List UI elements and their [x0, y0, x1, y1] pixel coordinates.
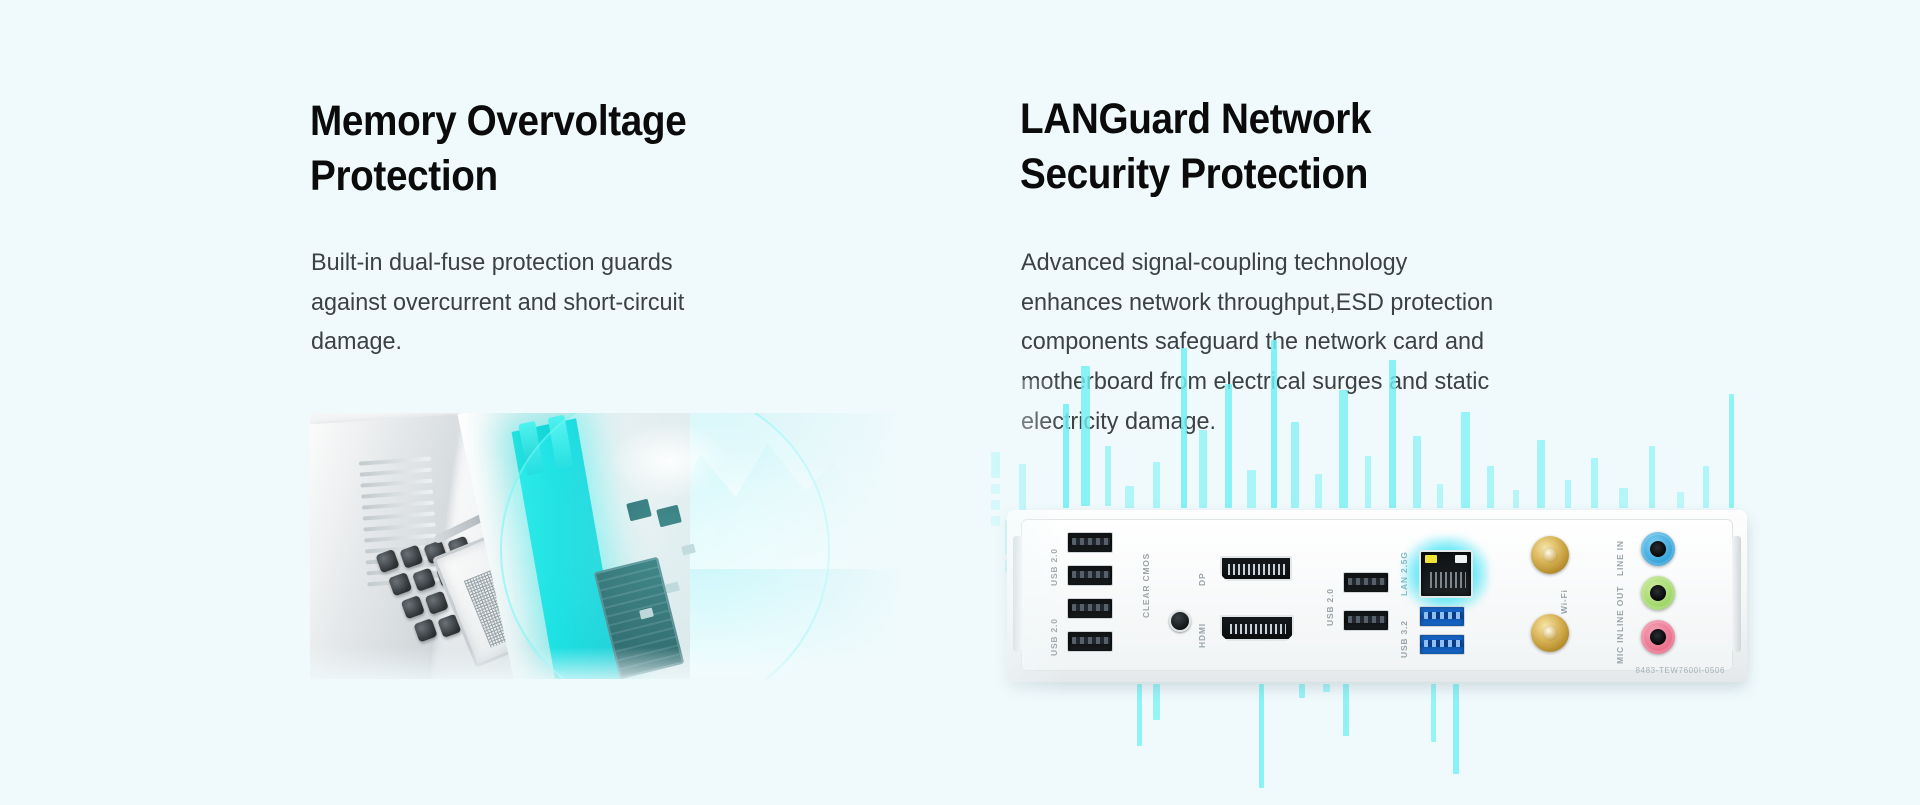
feature-body-memory: Built-in dual-fuse protection guards aga…: [311, 243, 922, 362]
port-label-hdmi: HDMI: [1197, 610, 1207, 648]
usb2-port-3: [1067, 598, 1113, 619]
audio-jack-line-in: [1641, 532, 1675, 566]
port-label-clear-cmos: CLEAR CMOS: [1141, 540, 1151, 618]
io-shield-photo: USB 2.0 USB 2.0 CLEAR CMOS DP HDMI USB 2…: [985, 400, 1775, 740]
feature-panel-page: Memory Overvoltage Protection Built-in d…: [0, 0, 1920, 805]
io-shield-serial-text: 8483-TEW7600I-0506: [1635, 666, 1725, 675]
usb32-port-1: [1419, 606, 1465, 627]
io-shield-inner-frame: [1021, 519, 1733, 671]
io-shield-plate: USB 2.0 USB 2.0 CLEAR CMOS DP HDMI USB 2…: [1007, 510, 1747, 682]
feature-heading-memory: Memory Overvoltage Protection: [310, 94, 886, 203]
usb2-port-2: [1067, 565, 1113, 586]
feature-heading-languard: LANGuard Network Security Protection: [1020, 92, 1650, 201]
port-label-usb32: USB 3.2: [1399, 606, 1409, 658]
io-shield-right-tab: [1732, 536, 1741, 652]
clear-cmos-button[interactable]: [1169, 610, 1191, 632]
memory-motherboard-photo: [310, 413, 898, 679]
usb2-port-1: [1067, 532, 1113, 553]
usb2-port-4: [1067, 631, 1113, 652]
port-label-dp: DP: [1197, 554, 1207, 586]
audio-jack-line-out: [1641, 576, 1675, 610]
usb2-port-5: [1343, 572, 1389, 593]
hdmi-port: [1220, 615, 1294, 641]
displayport-port: [1220, 556, 1292, 581]
lan-rj45-port: [1419, 550, 1473, 598]
lan-led-white: [1455, 555, 1467, 563]
lan-led-yellow: [1425, 555, 1437, 563]
usb32-port-2: [1419, 634, 1465, 655]
port-label-usb2-top: USB 2.0: [1049, 532, 1059, 586]
audio-jack-mic-in: [1641, 620, 1675, 654]
wifi-antenna-connector-bottom: [1531, 614, 1569, 652]
port-label-line-in: LINE IN: [1615, 530, 1625, 576]
port-label-usb2-mid: USB 2.0: [1049, 602, 1059, 656]
port-label-wifi: Wi-Fi: [1559, 574, 1569, 614]
port-label-usb2-right: USB 2.0: [1325, 572, 1335, 626]
io-shield-left-tab: [1013, 536, 1022, 652]
port-label-lan: LAN 2.5G: [1399, 538, 1409, 596]
wifi-antenna-connector-top: [1531, 536, 1569, 574]
usb2-port-6: [1343, 610, 1389, 631]
port-label-mic-in: MIC IN: [1615, 622, 1625, 664]
feature-block-memory-overvoltage: Memory Overvoltage Protection Built-in d…: [310, 0, 920, 805]
